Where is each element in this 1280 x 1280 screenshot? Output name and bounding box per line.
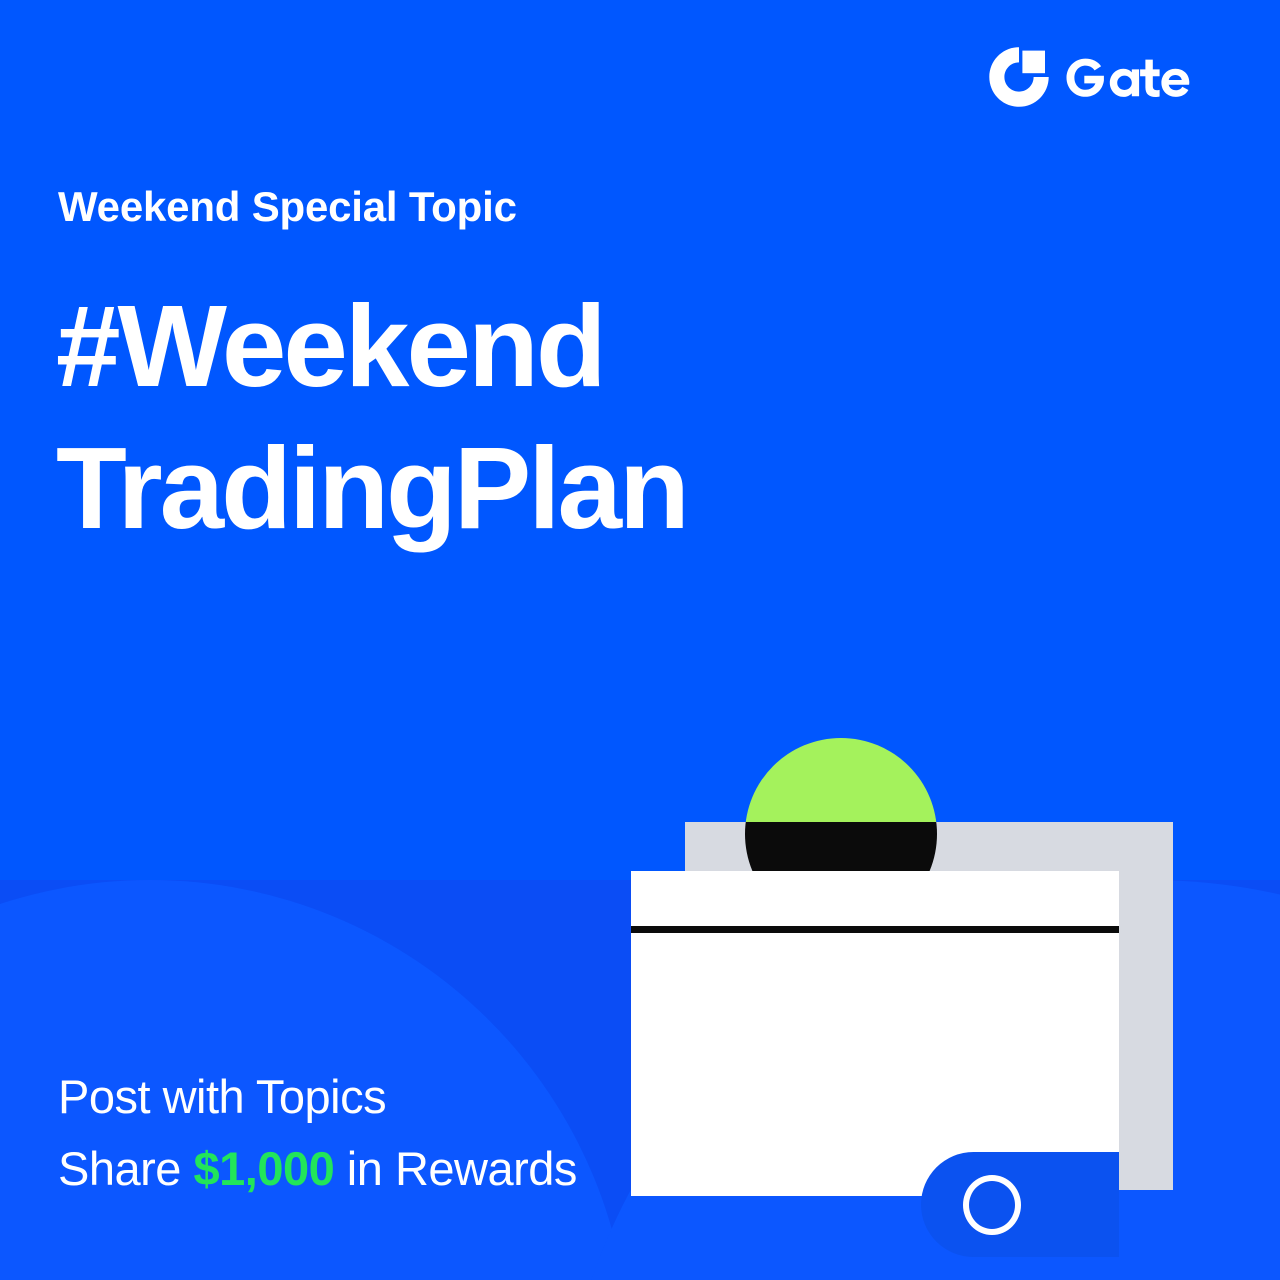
footer-line-2-suffix: in Rewards <box>334 1142 577 1195</box>
split-circle-top-half <box>745 738 937 822</box>
gate-g-mark-icon <box>988 46 1050 108</box>
footer-line-1: Post with Topics <box>58 1061 577 1132</box>
gate-logo[interactable] <box>988 46 1228 108</box>
wallet-tab-circle <box>963 1175 1021 1235</box>
headline-line-1: #Weekend <box>56 276 687 418</box>
footer-line-2: Share $1,000 in Rewards <box>58 1133 577 1204</box>
reward-amount: $1,000 <box>193 1142 334 1195</box>
footer-line-2-prefix: Share <box>58 1142 193 1195</box>
page-title: #Weekend TradingPlan <box>56 276 687 559</box>
footer-copy: Post with Topics Share $1,000 in Rewards <box>58 1061 577 1204</box>
wallet-tab-ring-icon <box>921 1152 1119 1257</box>
promo-poster: Weekend Special Topic #Weekend TradingPl… <box>0 0 1280 1280</box>
eyebrow-text: Weekend Special Topic <box>58 186 517 228</box>
headline-line-2: TradingPlan <box>56 418 687 560</box>
gate-wordmark <box>1060 46 1228 108</box>
wallet-card-icon <box>631 871 1119 1196</box>
wallet-card-divider <box>631 926 1119 933</box>
wallet-illustration <box>631 735 1173 1195</box>
